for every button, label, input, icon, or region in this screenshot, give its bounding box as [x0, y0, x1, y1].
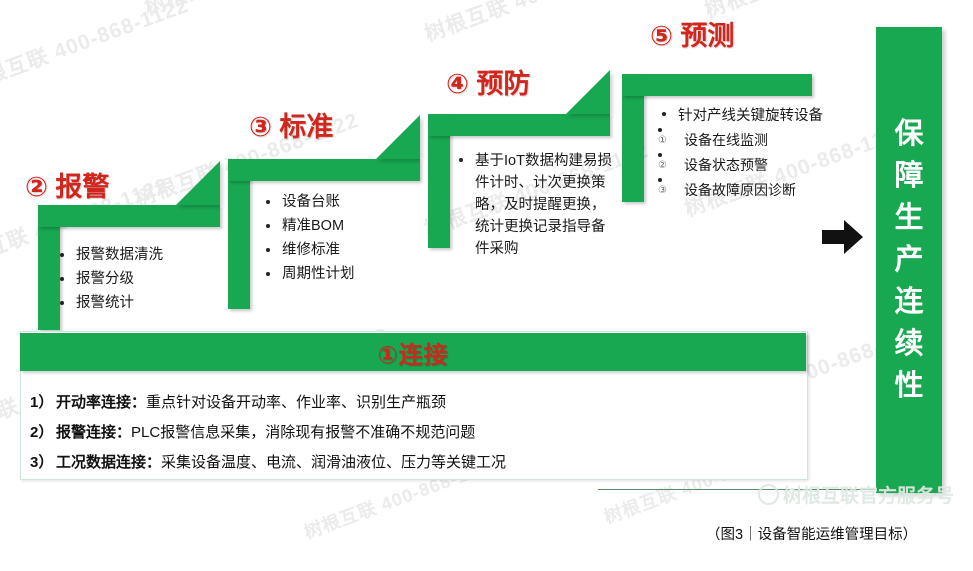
connect-row-text: PLC报警信息采集，消除现有报警不准确不规范问题	[131, 424, 475, 441]
sub-list-item: 设备故障原因诊断	[658, 178, 878, 203]
step-2-top-bar	[38, 205, 220, 227]
goal-char: 续	[894, 323, 923, 365]
connect-row: 1）开动率连接：重点针对设备开动率、作业率、识别生产瓶颈	[30, 388, 800, 418]
connect-row: 3）工况数据连接：采集设备温度、电流、润滑油液位、压力等关键工况	[30, 448, 800, 478]
step-3-left-bar	[228, 159, 250, 309]
connect-row-text: 采集设备温度、电流、润滑油液位、压力等关键工况	[161, 454, 506, 471]
list-item: 报警数据清洗	[56, 243, 236, 267]
step-5-top-bar	[622, 74, 812, 96]
step-4-top-bar	[428, 114, 610, 136]
goal-char: 产	[894, 239, 923, 281]
step-3-top-bar	[228, 159, 420, 181]
watermark-text: 树根互联 400-868-1122	[420, 0, 652, 48]
list-item: 精准BOM	[262, 214, 452, 238]
brand-circle-icon	[758, 484, 779, 505]
step-2-body: 报警数据清洗 报警分级 报警统计	[56, 243, 236, 315]
connect-row-number: 3）	[30, 448, 56, 478]
step-5-lead: 针对产线关键旋转设备	[658, 104, 878, 128]
step-3-arrow-triangle	[376, 115, 420, 159]
step-4-title: ④ 预防	[446, 62, 530, 101]
figure-caption: （图3｜设备智能运维管理目标）	[706, 523, 917, 544]
brand-label: 树根互联官方服务号	[783, 481, 954, 508]
step-5-title: ⑤ 预测	[650, 14, 734, 53]
step-4-arrow-triangle	[566, 70, 610, 114]
connect-row-text: 重点针对设备开动率、作业率、识别生产瓶颈	[146, 394, 446, 411]
step-5-sub-list: 设备在线监测 设备状态预警 设备故障原因诊断	[658, 128, 878, 203]
goal-char: 保	[894, 113, 923, 155]
goal-char: 连	[894, 281, 923, 323]
step-2-bullet-list: 报警数据清洗 报警分级 报警统计	[56, 243, 236, 315]
connect-row-number: 2）	[30, 418, 56, 448]
step-3-body: 设备台账 精准BOM 维修标准 周期性计划	[262, 190, 452, 286]
connect-row-key: 开动率连接：	[56, 394, 146, 411]
connect-row-number: 1）	[30, 388, 56, 418]
goal-bar: 保 障 生 产 连 续 性	[876, 27, 942, 493]
step-4-paragraph: 基于IoT数据构建易损件计时、计次更换策略，及时提醒更换，统计更换记录指导备件采…	[455, 150, 617, 260]
figure-canvas: 树根互联 400-868-1122 树根互联 400-868-1122 树根互联…	[0, 0, 973, 571]
step-4-body: 基于IoT数据构建易损件计时、计次更换策略，及时提醒更换，统计更换记录指导备件采…	[455, 150, 617, 260]
list-item: 设备台账	[262, 190, 452, 214]
connect-row-key: 工况数据连接：	[56, 454, 161, 471]
connect-banner[interactable]: ①连接	[20, 333, 806, 371]
step-3-title: ③ 标准	[249, 105, 333, 144]
goal-char: 生	[894, 197, 923, 239]
list-item: 报警统计	[56, 291, 236, 315]
step-5-body: 针对产线关键旋转设备 设备在线监测 设备状态预警 设备故障原因诊断	[658, 104, 878, 203]
goal-char: 障	[894, 155, 923, 197]
list-item: 报警分级	[56, 267, 236, 291]
sub-list-item: 设备在线监测	[658, 128, 878, 153]
step-2-arrow-triangle	[176, 161, 220, 205]
connect-row: 2）报警连接：PLC报警信息采集，消除现有报警不准确不规范问题	[30, 418, 800, 448]
list-item: 维修标准	[262, 238, 452, 262]
step-3-bullet-list: 设备台账 精准BOM 维修标准 周期性计划	[262, 190, 452, 286]
connect-row-key: 报警连接：	[56, 424, 131, 441]
watermark-text: 树根互联 400-868-1122	[140, 0, 372, 22]
goal-char: 性	[894, 365, 923, 407]
connect-banner-title: ①连接	[377, 335, 448, 370]
step-2-title: ② 报警	[25, 165, 109, 204]
sub-list-item: 设备状态预警	[658, 153, 878, 178]
watermark-text: 树根互联 400-868-1122	[0, 0, 192, 98]
right-arrow-icon	[822, 218, 864, 256]
connect-list: 1）开动率连接：重点针对设备开动率、作业率、识别生产瓶颈 2）报警连接：PLC报…	[30, 388, 800, 478]
brand-watermark: 树根互联官方服务号	[758, 481, 954, 508]
list-item: 周期性计划	[262, 262, 452, 286]
watermark-text: 树根互联 400-868-1122	[700, 0, 932, 24]
